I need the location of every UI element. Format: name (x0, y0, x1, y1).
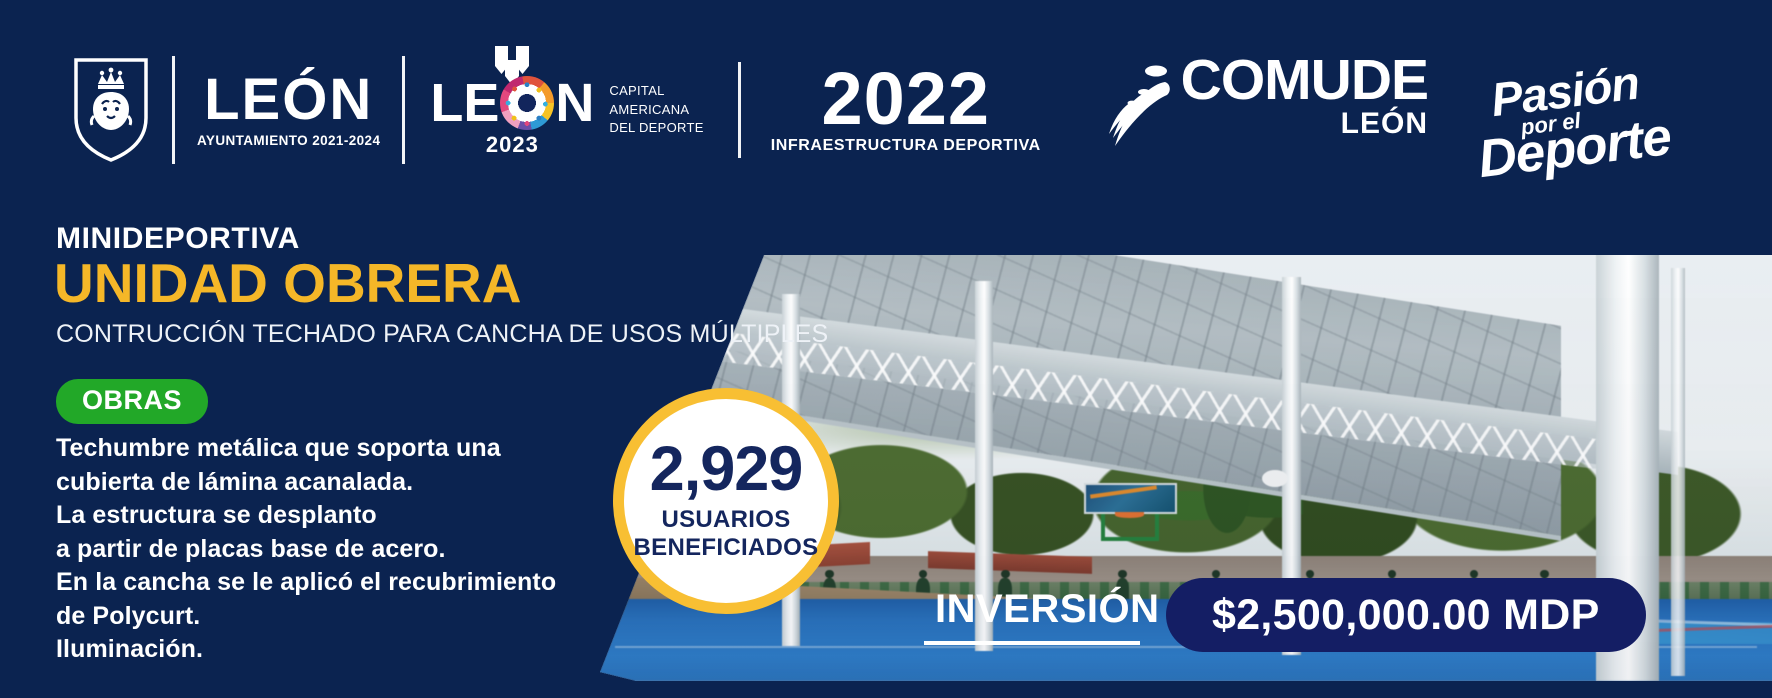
page-title: UNIDAD OBRERA (54, 254, 522, 312)
description-line: Techumbre metálica que soporta una (56, 432, 616, 466)
leon-2023-capital-logo: LE N 2023 (427, 62, 597, 158)
beneficiaries-label-1: USUARIOS (661, 506, 790, 534)
description-line: Iluminación. (56, 633, 616, 667)
description-line: En la cancha se le aplicó el recubrimien… (56, 566, 616, 600)
leon-ayuntamiento-logo: LEÓN AYUNTAMIENTO 2021-2024 (197, 72, 380, 147)
comude-wordmark: COMUDE (1181, 56, 1428, 105)
beneficiaries-count: 2,929 (650, 440, 803, 500)
ayuntamiento-period: AYUNTAMIENTO 2021-2024 (197, 133, 380, 148)
year-number: 2022 (821, 65, 990, 133)
bottom-strip (0, 684, 1772, 698)
divider (738, 62, 741, 158)
description-line: cubierta de lámina acanalada. (56, 466, 616, 500)
leon-2023-year: 2023 (486, 132, 539, 158)
left-logo-group: LEÓN AYUNTAMIENTO 2021-2024 LE N 2023 CA (72, 52, 1041, 168)
comude-swoosh-icon (1107, 62, 1179, 148)
investment-amount: $2,500,000.00 MDP (1166, 578, 1646, 652)
divider (402, 56, 405, 164)
leon-2023-wordmark: LE N (430, 76, 594, 130)
comude-city: LEÓN (1341, 107, 1428, 141)
colorful-medal-icon (500, 76, 554, 130)
investment-label: INVERSIÓN (935, 587, 1160, 632)
header-logo-bar: LEÓN AYUNTAMIENTO 2021-2024 LE N 2023 CA (0, 0, 1772, 196)
beneficiaries-label-2: BENEFICIADOS (634, 534, 819, 562)
divider (172, 56, 175, 164)
leon-word-pre: LE (430, 76, 499, 130)
lion-shield-crest-icon (72, 56, 150, 164)
description-line: La estructura se desplanto (56, 499, 616, 533)
description-line: de Polycurt. (56, 600, 616, 634)
leon-wordmark: LEÓN (204, 72, 373, 127)
pasion-por-el-deporte-logo: Pasión por el Deporte (1468, 46, 1720, 184)
project-description: Techumbre metálica que soporta una cubie… (56, 432, 616, 667)
kicker-minideportiva: MINIDEPORTIVA (56, 222, 300, 256)
comude-leon-logo: COMUDE LEÓN (1107, 56, 1428, 148)
year-2022-block: 2022 INFRAESTRUCTURA DEPORTIVA (771, 65, 1041, 155)
beneficiaries-badge: 2,929 USUARIOS BENEFICIADOS (613, 388, 839, 614)
capital-americana-tagline: CAPITAL AMERICANA DEL DEPORTE (609, 82, 703, 139)
year-caption: INFRAESTRUCTURA DEPORTIVA (771, 137, 1041, 155)
right-logo-group: COMUDE LEÓN Pasión por el Deporte (1107, 56, 1714, 172)
banner-root: LEÓN AYUNTAMIENTO 2021-2024 LE N 2023 CA (0, 0, 1772, 698)
leon-word-post: N (555, 76, 594, 130)
status-badge-obras: OBRAS (56, 379, 208, 424)
project-subtitle: CONTRUCCIÓN TECHADO PARA CANCHA DE USOS … (56, 320, 828, 349)
description-line: a partir de placas base de acero. (56, 533, 616, 567)
investment-underline (924, 641, 1140, 645)
comude-text: COMUDE LEÓN (1181, 56, 1428, 141)
